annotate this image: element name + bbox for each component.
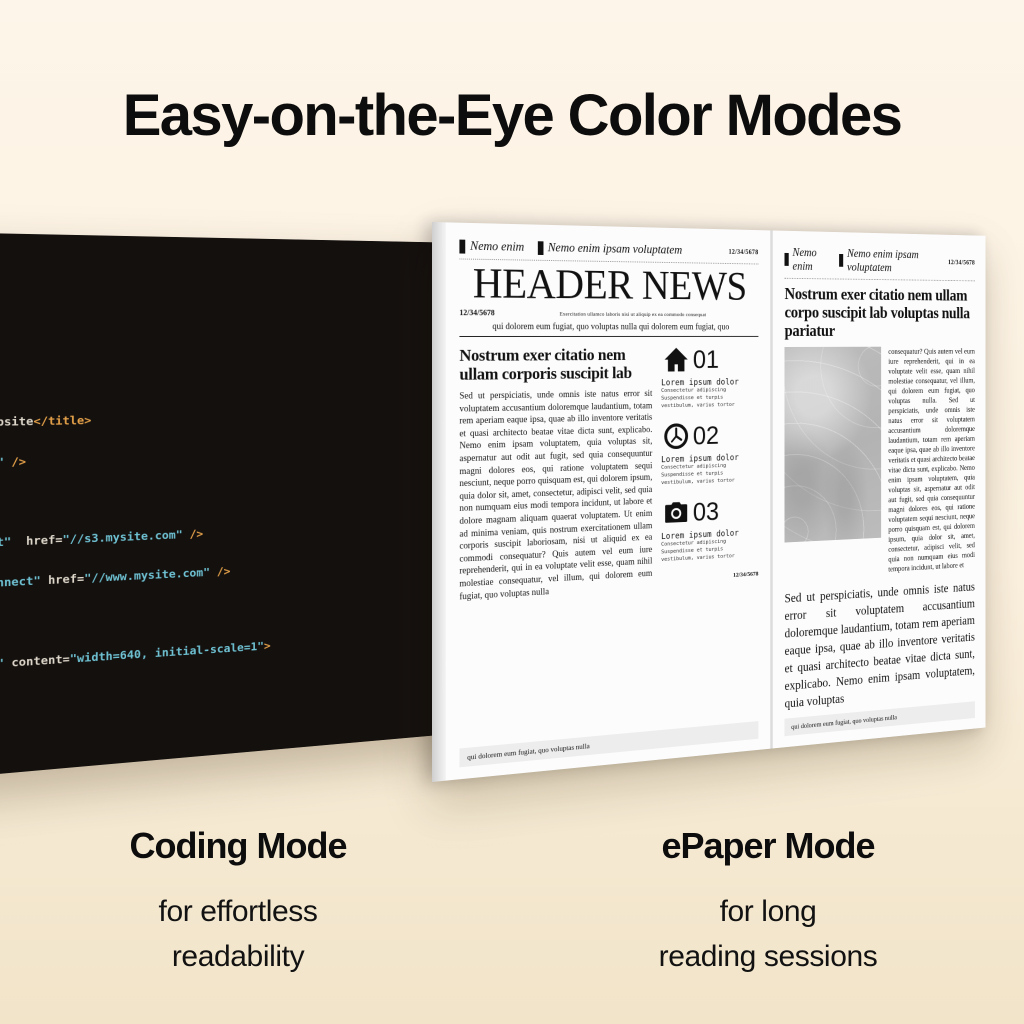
feature-item-02: 02 Lorem ipsum dolor Consectetur adipisc… bbox=[661, 420, 758, 487]
mode-captions: Coding Mode for effortless readability e… bbox=[0, 825, 1024, 980]
caption-title: Coding Mode bbox=[0, 825, 494, 867]
masthead-date: 12/34/5678 bbox=[948, 259, 975, 267]
page-footer-bar: qui dolorem eum fugiat, quo voluptas nul… bbox=[459, 721, 758, 767]
masthead-kickers: Nemo enim Nemo enim ipsam voluptatem 12/… bbox=[459, 239, 758, 259]
kicker-1: Nemo enim bbox=[459, 239, 524, 255]
camera-icon bbox=[661, 498, 691, 528]
code-editor-content: <!DOCTYPE html> <html lang="en"> <head> … bbox=[0, 269, 476, 780]
screen-bezel bbox=[432, 222, 446, 782]
caption-subtitle: for effortless readability bbox=[0, 889, 494, 980]
caption-coding-mode: Coding Mode for effortless readability bbox=[0, 825, 494, 980]
masthead-tagline: Exercitation ullamco laboris nisi ut ali… bbox=[502, 311, 758, 318]
masthead-strapline: qui dolorem eum fugiat, quo voluptas nul… bbox=[459, 321, 758, 337]
article-headline: Nostrum exer citatio nem ullam corpo sus… bbox=[785, 284, 975, 339]
masthead-kickers: Nemo enim Nemo enim ipsam voluptatem 12/… bbox=[785, 246, 975, 276]
feature-list: 01 Lorem ipsum dolor Consectetur adipisc… bbox=[661, 345, 758, 590]
article-photo bbox=[785, 347, 882, 543]
square-bullet-icon bbox=[839, 254, 843, 267]
newspaper-page-right: Nemo enim Nemo enim ipsam voluptatem 12/… bbox=[773, 230, 986, 748]
lead-article-text: Nostrum exer citatio nem ullam corporis … bbox=[459, 345, 652, 602]
coding-mode-screen[interactable]: <!DOCTYPE html> <html lang="en"> <head> … bbox=[0, 232, 476, 780]
caption-epaper-mode: ePaper Mode for long reading sessions bbox=[512, 825, 1024, 980]
square-bullet-icon bbox=[785, 253, 789, 266]
newspaper-title: HEADER NEWS bbox=[459, 261, 758, 309]
feature-body: Consectetur adipiscing Suspendisse et tu… bbox=[661, 536, 758, 563]
feature-item-03: 03 Lorem ipsum dolor Consectetur adipisc… bbox=[661, 496, 758, 564]
masthead-date: 12/34/5678 bbox=[729, 248, 759, 256]
lead-article: Nostrum exer citatio nem ullam corporis … bbox=[459, 345, 758, 602]
feature-number: 02 bbox=[693, 423, 719, 449]
feature-number: 01 bbox=[693, 347, 719, 373]
kicker-2: Nemo enim ipsam voluptatem bbox=[839, 247, 937, 276]
masthead-sub-date: 12/34/5678 bbox=[459, 308, 494, 317]
feature-body: Consectetur adipiscing Suspendisse et tu… bbox=[661, 461, 758, 487]
divider bbox=[785, 278, 975, 281]
article-headline: Nostrum exer citatio nem ullam corporis … bbox=[459, 345, 652, 383]
clock-icon bbox=[661, 422, 691, 451]
feature-header: 01 bbox=[661, 345, 758, 374]
kicker-2: Nemo enim ipsam voluptatem bbox=[537, 240, 682, 257]
caption-title: ePaper Mode bbox=[512, 825, 1024, 867]
feature-number: 03 bbox=[693, 498, 719, 524]
article-wide-text: Sed ut perspiciatis, unde omnis iste nat… bbox=[785, 578, 975, 712]
article-with-photo: consequatur? Quis autem vel eum iure rep… bbox=[785, 346, 975, 580]
epaper-mode-screen[interactable]: Nemo enim Nemo enim ipsam voluptatem 12/… bbox=[432, 222, 986, 782]
feature-item-01: 01 Lorem ipsum dolor Consectetur adipisc… bbox=[661, 345, 758, 410]
newspaper-page-left: Nemo enim Nemo enim ipsam voluptatem 12/… bbox=[446, 222, 773, 780]
square-bullet-icon bbox=[537, 241, 543, 255]
masthead-subline: 12/34/5678 Exercitation ullamco laboris … bbox=[459, 308, 758, 318]
feature-body: Consectetur adipiscing Suspendisse et tu… bbox=[661, 386, 758, 410]
feature-date: 12/34/5678 bbox=[661, 571, 758, 583]
article-column: consequatur? Quis autem vel eum iure rep… bbox=[888, 346, 975, 574]
square-bullet-icon bbox=[459, 239, 465, 253]
kicker-1: Nemo enim bbox=[785, 246, 828, 274]
feature-header: 03 bbox=[661, 496, 758, 528]
article-body: Sed ut perspiciatis, unde omnis iste nat… bbox=[459, 387, 652, 602]
feature-header: 02 bbox=[661, 420, 758, 450]
home-icon bbox=[661, 345, 691, 374]
caption-subtitle: for long reading sessions bbox=[512, 889, 1024, 980]
